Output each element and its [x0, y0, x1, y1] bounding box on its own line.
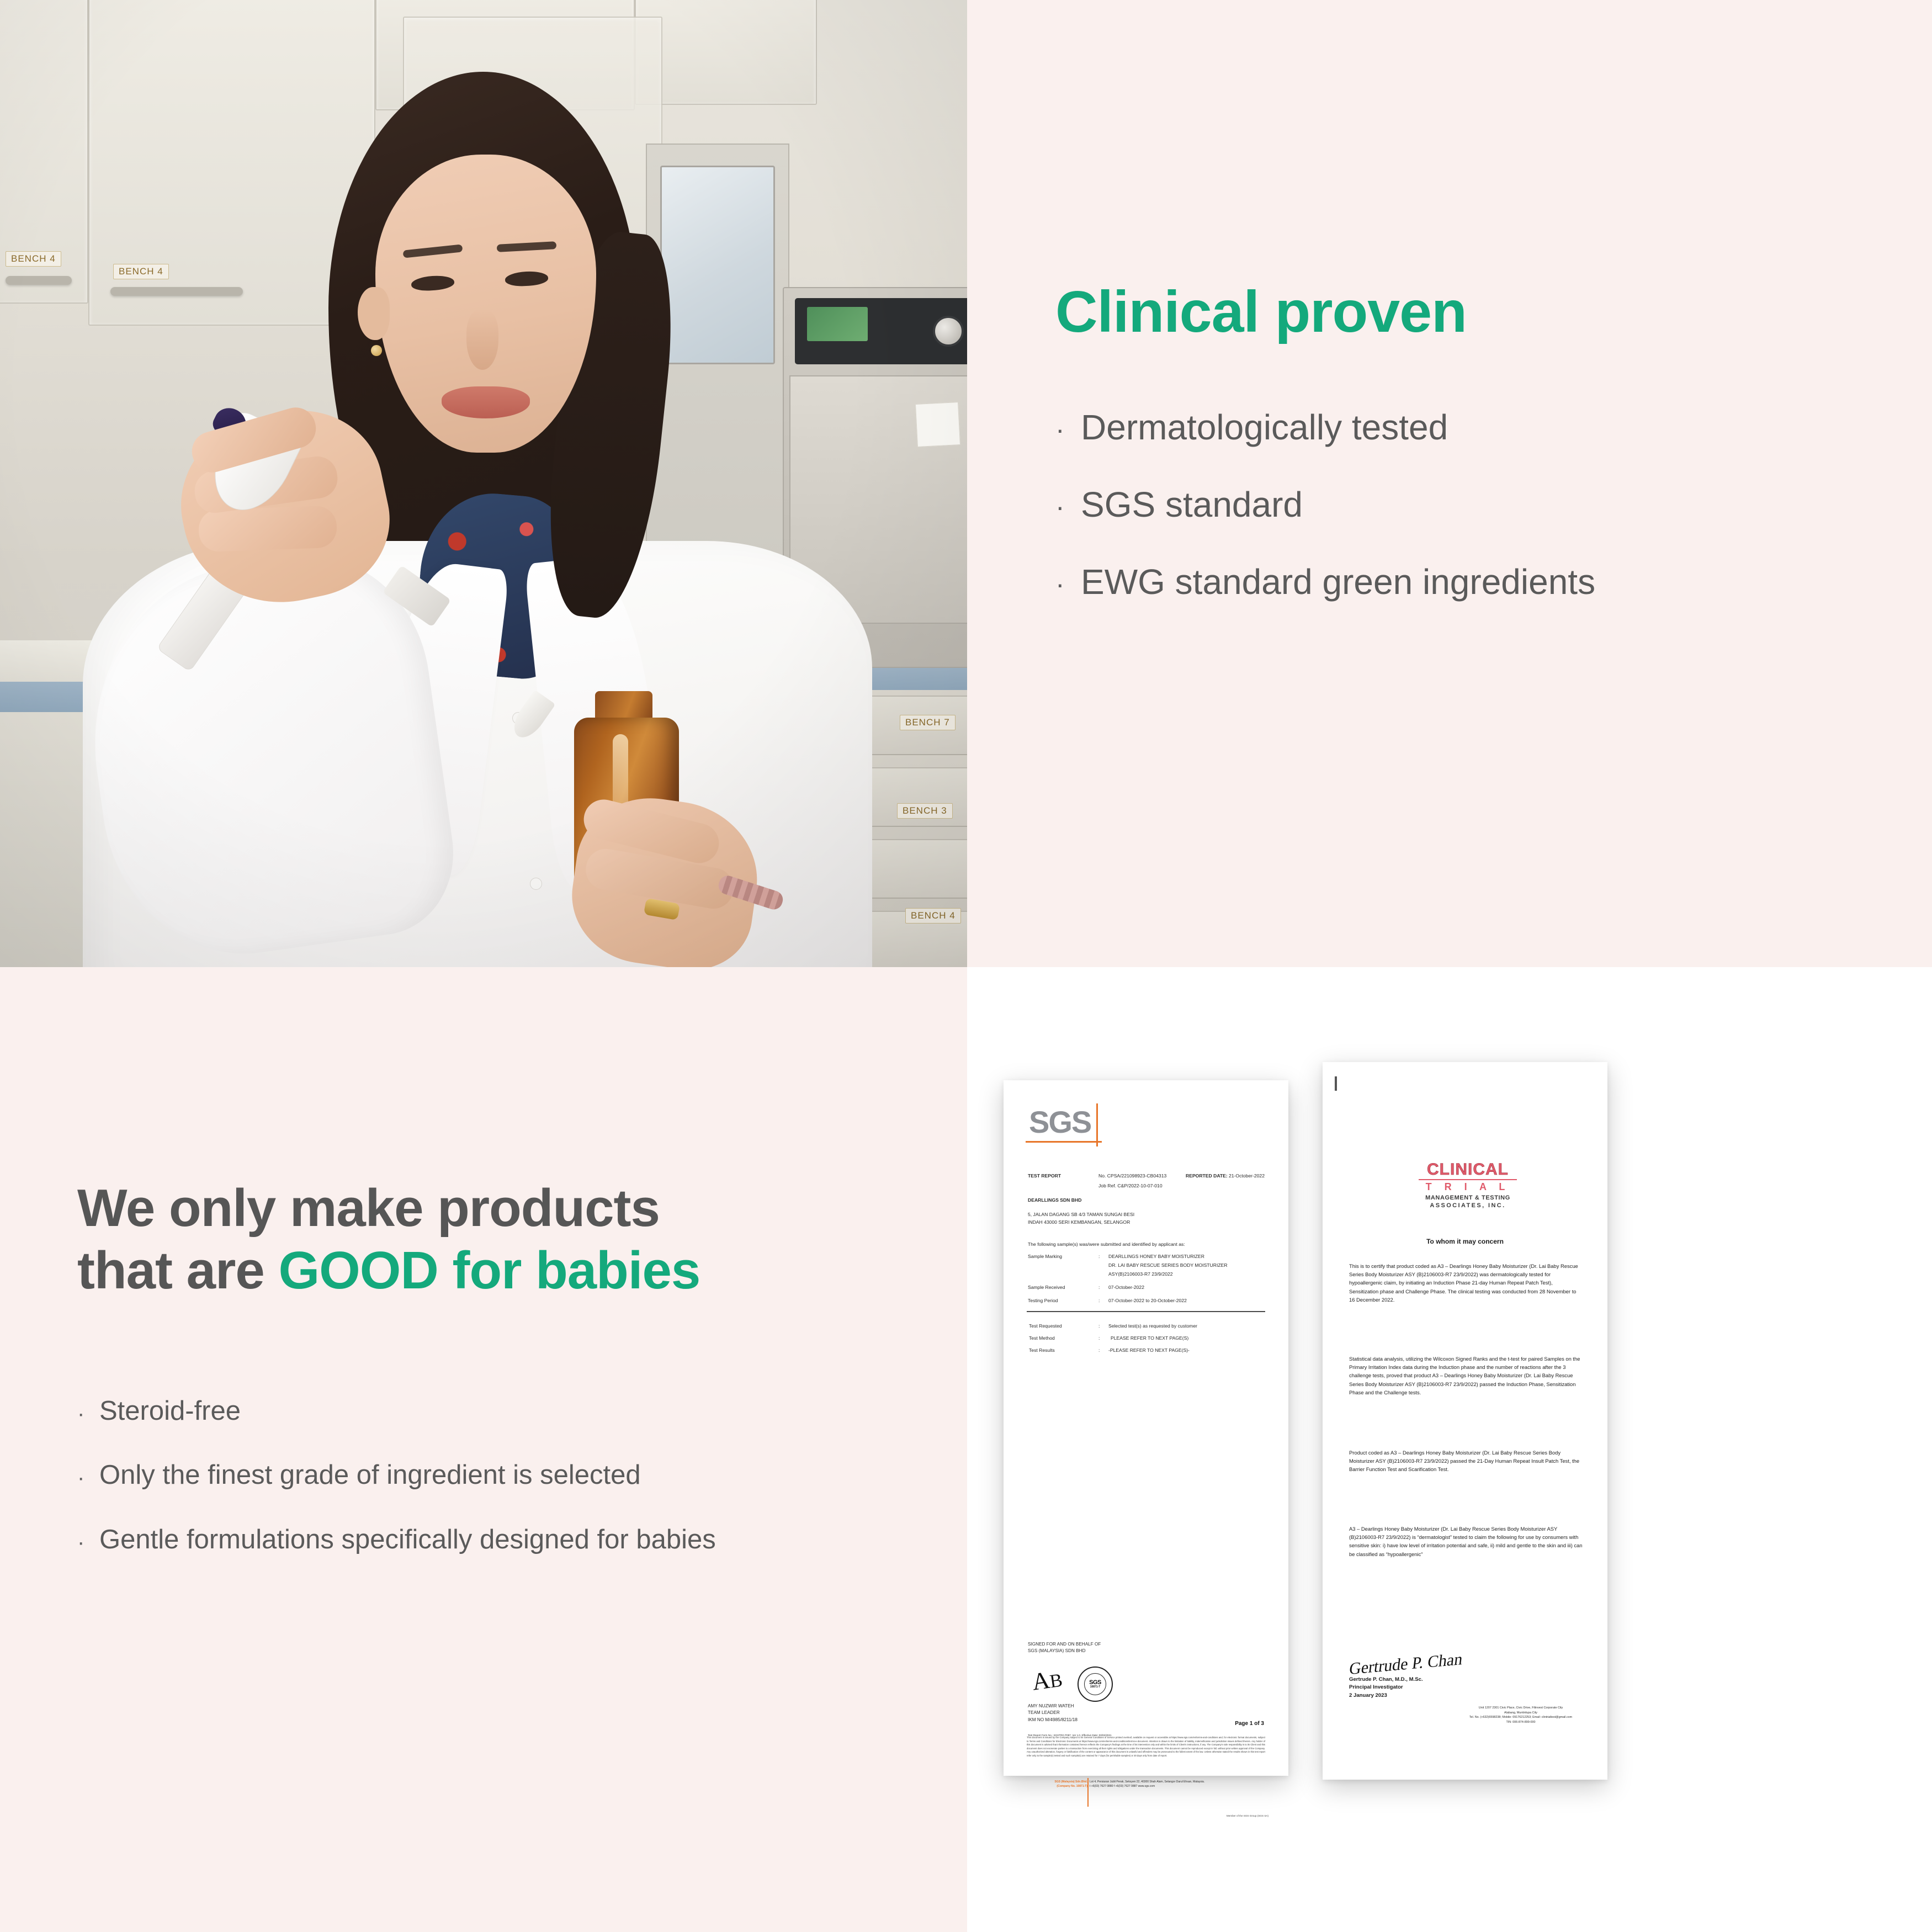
field-sep: :	[1098, 1335, 1100, 1341]
footer-contact-block: Lot 4, Persiaran Jubli Perak, Seksyen 22…	[1090, 1780, 1266, 1788]
investigator-date: 2 January 2023	[1349, 1692, 1423, 1700]
signer-block: AMY NUZWIR WATEH TEAM LEADER IKM NO M/49…	[1028, 1703, 1078, 1723]
footer-company-block: SGS (Malaysia) Sdn.Bhd. (Company No. 108…	[1037, 1780, 1087, 1788]
signature-mark: AB	[1030, 1663, 1073, 1699]
list-item: · EWG standard green ingredients	[1055, 562, 1872, 602]
good-for-babies-title: We only make products that are GOOD for …	[77, 1177, 938, 1302]
address-line-2: Alabang, Muntinlupa City	[1441, 1711, 1601, 1716]
certificate-heading: To whom it may concern	[1323, 1238, 1607, 1245]
marketing-page: BENCH 4 BENCH 4 BENCH 7 BENCH 3 BENCH	[0, 0, 1932, 1932]
sgs-logo-icon: SGS	[1029, 1107, 1112, 1148]
lab-photo-panel: BENCH 4 BENCH 4 BENCH 7 BENCH 3 BENCH	[0, 0, 967, 967]
title-line-2-highlight: GOOD for babies	[278, 1241, 700, 1300]
bullet-icon: ·	[77, 1460, 99, 1489]
good-for-babies-list: · Steroid-free · Only the finest grade o…	[77, 1396, 938, 1556]
signed-line-1: SIGNED FOR AND ON BEHALF OF	[1028, 1641, 1101, 1648]
list-item: · Only the finest grade of ingredient is…	[77, 1460, 938, 1490]
sgs-logo-text: SGS	[1029, 1107, 1112, 1138]
list-item-label: EWG standard green ingredients	[1081, 562, 1595, 602]
page-number: Page 1 of 3	[1235, 1721, 1264, 1727]
list-item-label: Only the finest grade of ingredient is s…	[99, 1460, 641, 1490]
field-label: Test Results	[1029, 1347, 1055, 1353]
logo-line-1: CLINICAL	[1410, 1161, 1526, 1178]
lab-photo: BENCH 4 BENCH 4 BENCH 7 BENCH 3 BENCH	[0, 0, 967, 967]
sgs-stamp-icon: SGS10871-T	[1078, 1666, 1113, 1702]
address-line-3: Tel. No. (+632)6598238; Mobile: 09176212…	[1441, 1715, 1601, 1720]
bullet-icon: ·	[1055, 562, 1081, 598]
technician-ear	[358, 287, 390, 340]
field-value: ASY(B)2106003-R7 23/9/2022	[1108, 1271, 1173, 1277]
field-label: Test Method	[1029, 1335, 1055, 1341]
list-item-label: Gentle formulations specifically designe…	[99, 1525, 716, 1555]
investigator-name: Gertrude P. Chan, M.D., M.Sc.	[1349, 1676, 1423, 1684]
clinical-trial-logo-icon: CLINICAL T R I A L MANAGEMENT & TESTING …	[1410, 1161, 1526, 1210]
reported-date-label: REPORTED DATE:	[1186, 1173, 1228, 1179]
field-sep: :	[1098, 1285, 1100, 1290]
company-address-line-1: 5, JALAN DAGANG SB 4/3 TAMAN SUNGAI BESI	[1028, 1212, 1134, 1217]
clinical-proven-panel: Clinical proven · Dermatologically teste…	[967, 0, 1932, 967]
investigator-signature-mark: Gertrude P. Chan	[1348, 1650, 1463, 1679]
page-marker	[1335, 1076, 1337, 1091]
earring	[371, 345, 382, 356]
list-item-label: SGS standard	[1081, 485, 1303, 525]
signer-name: AMY NUZWIR WATEH	[1028, 1703, 1078, 1710]
job-ref: Job Ref. C&P/2022-10-07-010	[1098, 1183, 1163, 1188]
sgs-test-report-document[interactable]: SGS TEST REPORT No. CPSA/221098923-CB043…	[1004, 1080, 1288, 1776]
list-item: · Gentle formulations specifically desig…	[77, 1525, 938, 1555]
bench-label: BENCH 4	[113, 264, 169, 279]
bench-label: BENCH 7	[900, 715, 956, 730]
field-value: 07-October-2022	[1108, 1285, 1144, 1290]
cabinet-handle-1	[6, 276, 72, 285]
field-value: -PLEASE REFER TO NEXT PAGE(S)-	[1108, 1347, 1190, 1353]
field-label: Sample Marking	[1028, 1254, 1062, 1259]
coat-button	[530, 878, 542, 890]
footer-registration-no: (Company No. 10871-T)	[1037, 1785, 1087, 1789]
bullet-icon: ·	[1055, 408, 1081, 443]
footer-address: Lot 4, Persiaran Jubli Perak, Seksyen 22…	[1090, 1780, 1266, 1785]
company-address-line-2: INDAH 43000 SERI KEMBANGAN, SELANGOR	[1028, 1219, 1130, 1225]
title-line-2-plain: that are	[77, 1241, 278, 1300]
address-line-4: TIN: 006-874-899-000	[1441, 1720, 1601, 1725]
list-item: · Dermatologically tested	[1055, 408, 1872, 448]
field-label: Test Requested	[1029, 1323, 1062, 1329]
title-line-1: We only make products	[77, 1179, 660, 1238]
divider	[1027, 1311, 1265, 1312]
fine-print: This document is issued by the Company s…	[1027, 1736, 1265, 1758]
sticky-note	[915, 402, 960, 447]
company-name: DEARLLINGS SDN BHD	[1028, 1197, 1081, 1203]
sample-intro: The following sample(s) was/were submitt…	[1028, 1241, 1185, 1247]
incubator-screen	[807, 307, 868, 341]
certificate-paragraph-3: Product coded as A3 – Dearlings Honey Ba…	[1349, 1448, 1583, 1474]
signed-on-behalf: SIGNED FOR AND ON BEHALF OF SGS (MALAYSI…	[1028, 1641, 1101, 1655]
field-value: 07-October-2022 to 20-October-2022	[1108, 1298, 1187, 1303]
bench-label: BENCH 3	[897, 803, 953, 819]
field-sep: :	[1098, 1347, 1100, 1353]
stamp-sub-text: 10871-T	[1090, 1686, 1101, 1689]
footer-member-note: Member of the SGS Group (SGS SA)	[1227, 1814, 1268, 1817]
footer-divider	[1087, 1778, 1089, 1807]
logo-line-4: ASSOCIATES, INC.	[1410, 1202, 1526, 1210]
list-item: · SGS standard	[1055, 485, 1872, 525]
list-item-label: Dermatologically tested	[1081, 408, 1448, 448]
signer-ikm-number: IKM NO M/4985/8211/18	[1028, 1717, 1078, 1723]
logo-line-3: MANAGEMENT & TESTING	[1410, 1195, 1526, 1202]
clinical-trial-certificate-document[interactable]: CLINICAL T R I A L MANAGEMENT & TESTING …	[1323, 1062, 1607, 1780]
certificate-paragraph-4: A3 – Dearlings Honey Baby Moisturizer (D…	[1349, 1525, 1583, 1558]
investigator-title: Principal Investigator	[1349, 1684, 1423, 1691]
test-report-label: TEST REPORT	[1028, 1173, 1061, 1179]
field-value: DEARLLINGS HONEY BABY MOISTURIZER	[1108, 1254, 1204, 1259]
certificate-paragraph-2: Statistical data analysis, utilizing the…	[1349, 1355, 1583, 1397]
fridge-glass-door	[660, 166, 775, 364]
ctm-footer-address: Unit 1207 2301 Civic Place, Civic Drive,…	[1441, 1706, 1601, 1725]
logo-line-2: T R I A L	[1410, 1182, 1526, 1192]
cabinet-handle-2	[110, 287, 243, 296]
field-sep: :	[1098, 1323, 1100, 1329]
bullet-icon: ·	[77, 1396, 99, 1425]
incubator-knob	[933, 316, 964, 347]
clinical-proven-list: · Dermatologically tested · SGS standard…	[1055, 408, 1872, 602]
field-sep: :	[1098, 1298, 1100, 1303]
signed-line-2: SGS (MALAYSIA) SDN BHD	[1028, 1648, 1101, 1654]
list-item-label: Steroid-free	[99, 1396, 241, 1426]
address-line-1: Unit 1207 2301 Civic Place, Civic Drive,…	[1441, 1706, 1601, 1711]
clinical-proven-title: Clinical proven	[1055, 282, 1872, 343]
footer-company-name: SGS (Malaysia) Sdn.Bhd.	[1037, 1780, 1087, 1785]
field-label: Sample Received	[1028, 1285, 1065, 1290]
field-value: Selected test(s) as requested by custome…	[1108, 1323, 1197, 1329]
report-number: No. CPSA/221098923-CB04313	[1098, 1173, 1166, 1179]
bullet-icon: ·	[77, 1525, 99, 1553]
reported-date-value: 21-October-2022	[1229, 1173, 1265, 1179]
field-label: Testing Period	[1028, 1298, 1058, 1303]
good-for-babies-panel: We only make products that are GOOD for …	[0, 967, 967, 1932]
certificates-panel: SGS TEST REPORT No. CPSA/221098923-CB043…	[967, 967, 1932, 1932]
footer-contact: t +6(03) 7627 0880 f +6(03) 7627 0887 ww…	[1090, 1785, 1266, 1789]
field-sep: :	[1098, 1254, 1100, 1259]
bench-label: BENCH 4	[905, 908, 961, 923]
investigator-block: Gertrude P. Chan, M.D., M.Sc. Principal …	[1349, 1676, 1423, 1700]
list-item: · Steroid-free	[77, 1396, 938, 1426]
field-value: DR. LAI BABY RESCUE SERIES BODY MOISTURI…	[1108, 1262, 1228, 1268]
nose	[466, 309, 498, 370]
lips	[442, 386, 530, 418]
bullet-icon: ·	[1055, 485, 1081, 521]
signer-title: TEAM LEADER	[1028, 1710, 1078, 1716]
certificate-paragraph-1: This is to certify that product coded as…	[1349, 1262, 1583, 1304]
field-value: PLEASE REFER TO NEXT PAGE(S)	[1111, 1335, 1188, 1341]
bench-label: BENCH 4	[6, 251, 61, 267]
